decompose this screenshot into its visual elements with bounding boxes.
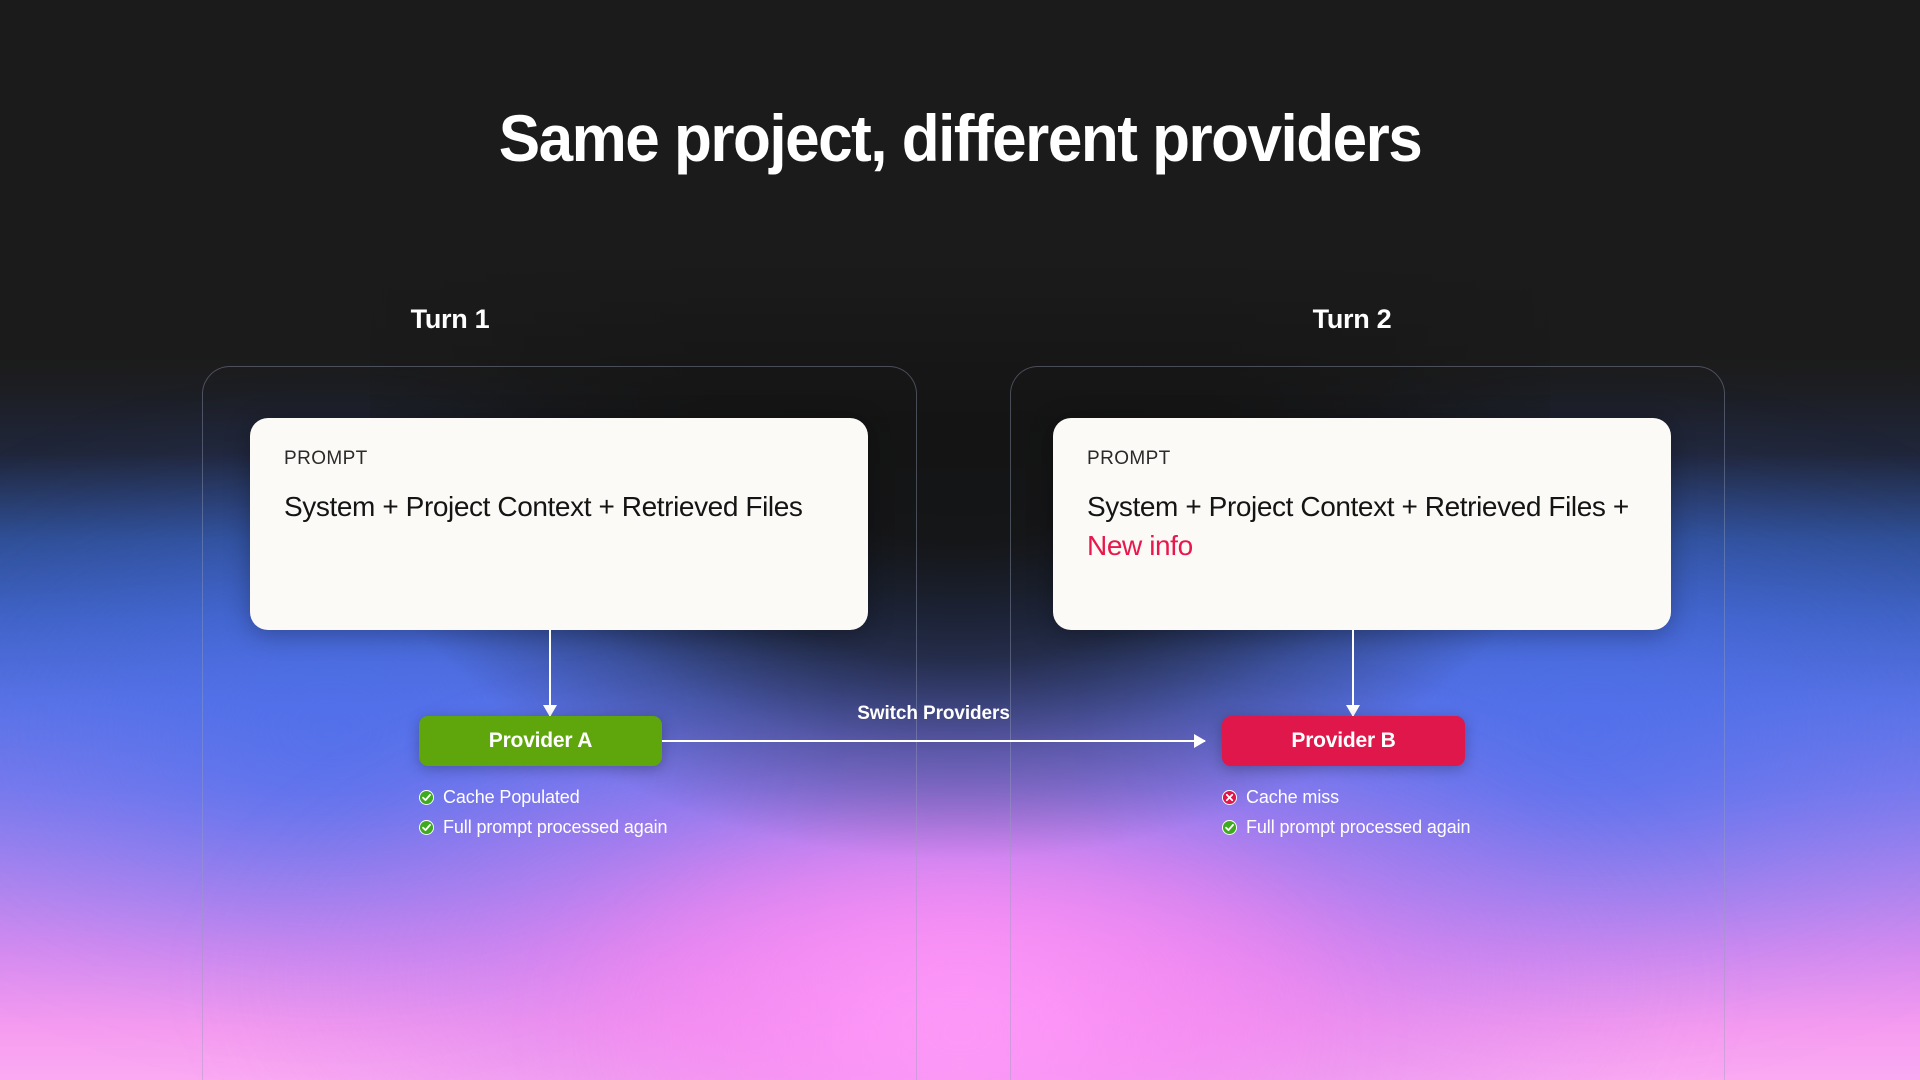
arrow-switch-providers (662, 740, 1205, 742)
arrow-down-turn-1 (549, 630, 551, 716)
prompt-kicker-2: PROMPT (1087, 448, 1637, 470)
prompt-body-main-2: System + Project Context + Retrieved Fil… (1087, 491, 1629, 522)
provider-pill-a[interactable]: Provider A (419, 716, 662, 766)
slide-canvas: Same project, different providers Turn 1… (0, 0, 1920, 1080)
status-item: Full prompt processed again (419, 815, 667, 840)
status-item-label: Cache Populated (443, 785, 580, 810)
prompt-card-turn-1: PROMPT System + Project Context + Retrie… (250, 418, 868, 630)
status-list-turn-2: Cache miss Full prompt processed again (1222, 785, 1470, 845)
status-item: Full prompt processed again (1222, 815, 1470, 840)
status-item-label: Full prompt processed again (1246, 815, 1470, 840)
status-item-label: Full prompt processed again (443, 815, 667, 840)
x-circle-icon (1222, 790, 1237, 805)
check-circle-icon (419, 820, 434, 835)
page-title: Same project, different providers (58, 104, 1863, 173)
prompt-body-2: System + Project Context + Retrieved Fil… (1087, 488, 1637, 566)
status-item-label: Cache miss (1246, 785, 1339, 810)
arrow-down-turn-2 (1352, 630, 1354, 716)
switch-providers-label: Switch Providers (662, 703, 1205, 725)
prompt-kicker-1: PROMPT (284, 448, 834, 470)
prompt-body-1: System + Project Context + Retrieved Fil… (284, 488, 834, 527)
status-item: Cache miss (1222, 785, 1470, 810)
status-item: Cache Populated (419, 785, 667, 810)
prompt-body-main-1: System + Project Context + Retrieved Fil… (284, 491, 803, 522)
check-circle-icon (1222, 820, 1237, 835)
prompt-card-turn-2: PROMPT System + Project Context + Retrie… (1053, 418, 1671, 630)
turn-label-1: Turn 1 (320, 304, 580, 335)
check-circle-icon (419, 790, 434, 805)
provider-pill-b[interactable]: Provider B (1222, 716, 1465, 766)
status-list-turn-1: Cache Populated Full prompt processed ag… (419, 785, 667, 845)
prompt-body-highlight-2: New info (1087, 530, 1193, 561)
turn-label-2: Turn 2 (1222, 304, 1482, 335)
